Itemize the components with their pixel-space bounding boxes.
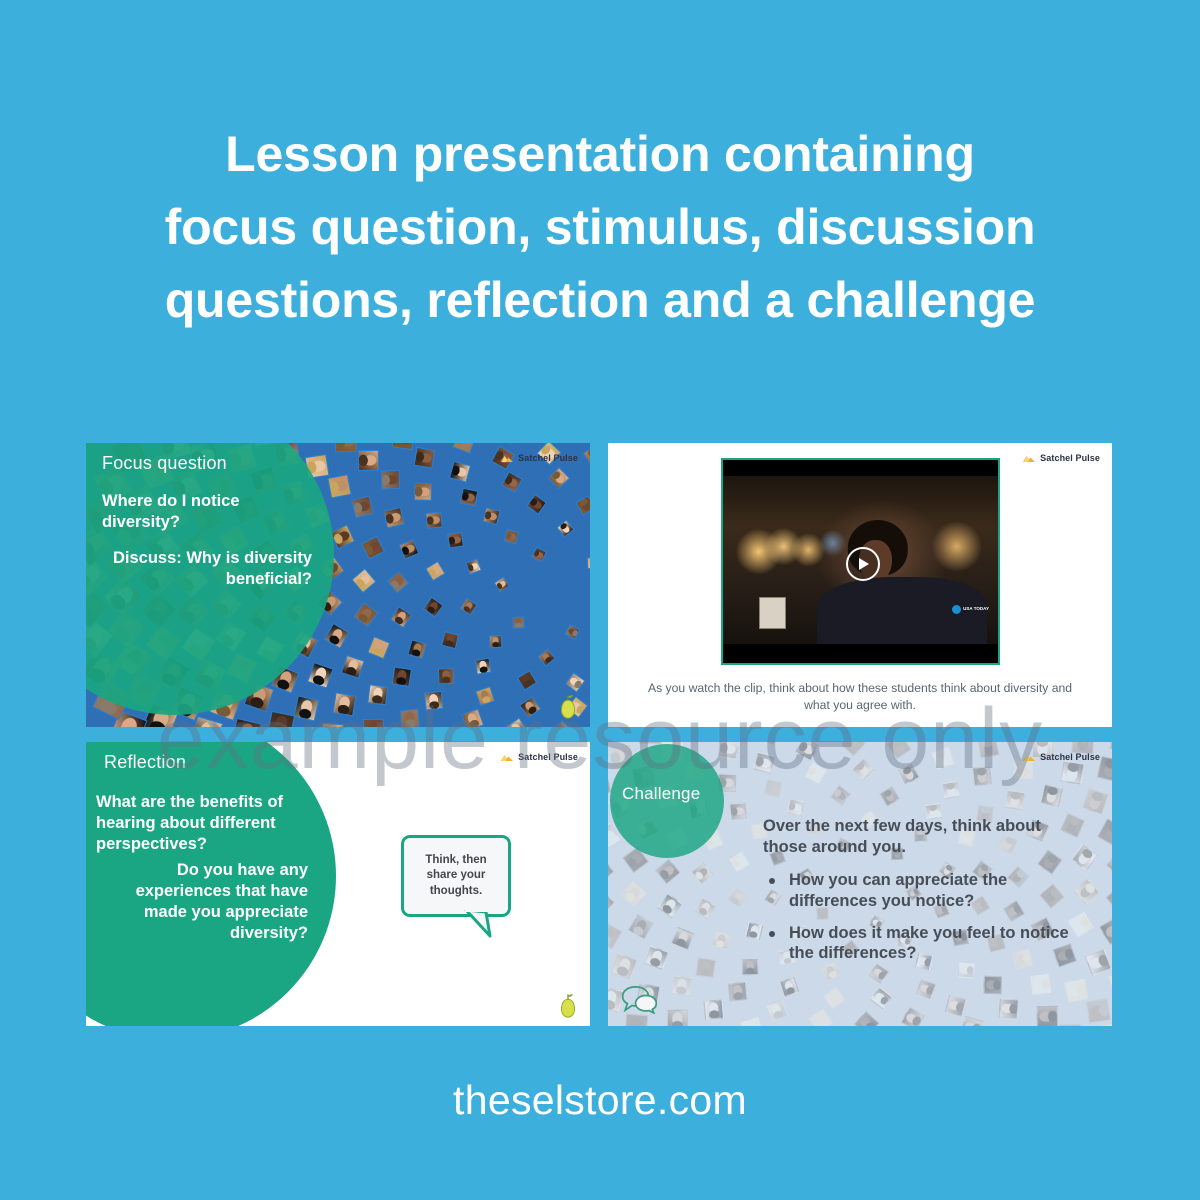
- mosaic-face-tile: [840, 742, 865, 756]
- mosaic-face-tile: [332, 692, 356, 716]
- satchel-pulse-logo: Satchel Pulse: [500, 752, 578, 762]
- mosaic-face-tile: [1030, 973, 1052, 995]
- mosaic-face-tile: [358, 450, 379, 471]
- mosaic-face-tile: [936, 742, 961, 744]
- mosaic-face-tile: [475, 658, 492, 675]
- mosaic-face-tile: [293, 695, 320, 722]
- video-player[interactable]: USA TODAY: [721, 458, 1000, 665]
- pear-icon: [558, 693, 578, 719]
- mosaic-face-tile: [945, 995, 967, 1017]
- mosaic-face-tile: [466, 558, 483, 575]
- page-title-line-3: questions, reflection and a challenge: [60, 264, 1140, 337]
- mosaic-face-tile: [999, 998, 1020, 1019]
- page-title-line-2: focus question, stimulus, discussion: [60, 191, 1140, 264]
- slide-focus-question[interactable]: Satchel Pulse Focus question Where do I …: [86, 443, 590, 727]
- mosaic-face-tile: [328, 474, 352, 498]
- mosaic-face-tile: [973, 766, 992, 785]
- mosaic-face-tile: [977, 742, 1000, 759]
- mosaic-face-tile: [932, 746, 955, 769]
- mosaic-face-tile: [757, 742, 782, 745]
- challenge-lead-text: Over the next few days, think about thos…: [763, 816, 1073, 858]
- mosaic-face-tile: [531, 547, 547, 563]
- mosaic-face-tile: [624, 1013, 648, 1026]
- mosaic-face-tile: [575, 495, 590, 515]
- satchel-pulse-logo: Satchel Pulse: [1022, 453, 1100, 463]
- reflection-question-primary: What are the benefits of hearing about d…: [96, 792, 308, 855]
- mosaic-face-tile: [459, 597, 477, 615]
- mosaic-face-tile: [795, 742, 819, 761]
- mosaic-face-tile: [353, 603, 378, 628]
- mosaic-face-tile: [901, 1007, 925, 1026]
- mosaic-face-tile: [399, 709, 420, 727]
- mosaic-face-tile: [608, 888, 615, 917]
- mosaic-face-tile: [887, 742, 912, 759]
- mosaic-face-tile: [335, 443, 357, 453]
- mosaic-face-tile: [645, 946, 669, 970]
- mosaic-face-tile: [1099, 916, 1112, 945]
- mountain-logo-icon: [500, 453, 514, 463]
- mosaic-face-tile: [363, 719, 384, 727]
- mountain-logo-icon: [500, 752, 514, 762]
- mosaic-face-tile: [517, 671, 537, 691]
- footer-website-url: theselstore.com: [0, 1077, 1200, 1124]
- mosaic-face-tile: [729, 853, 749, 873]
- mosaic-face-tile: [565, 624, 581, 640]
- mosaic-face-tile: [1058, 1024, 1080, 1026]
- mosaic-face-tile: [453, 443, 478, 454]
- mosaic-face-tile: [551, 721, 576, 727]
- mosaic-face-tile: [809, 1009, 834, 1026]
- pear-icon: [558, 992, 578, 1018]
- mosaic-face-tile: [441, 631, 459, 649]
- mosaic-face-tile: [1037, 1006, 1058, 1026]
- mosaic-face-tile: [391, 443, 415, 451]
- mosaic-face-tile: [742, 959, 759, 976]
- mosaic-face-tile: [657, 894, 682, 919]
- slide-kicker-reflection: Reflection: [104, 752, 186, 773]
- mosaic-face-tile: [351, 495, 374, 518]
- mosaic-face-tile: [482, 507, 500, 525]
- mosaic-face-tile: [438, 668, 455, 685]
- mosaic-face-tile: [727, 888, 747, 908]
- mosaic-face-tile: [984, 976, 1002, 994]
- mosaic-face-tile: [718, 742, 740, 760]
- mosaic-face-tile: [425, 511, 443, 529]
- brand-name: Satchel Pulse: [518, 752, 578, 762]
- mosaic-face-tile: [425, 562, 445, 582]
- stimulus-caption: As you watch the clip, think about how t…: [634, 680, 1086, 713]
- mosaic-face-tile: [320, 722, 344, 727]
- mosaic-face-tile: [1106, 883, 1112, 912]
- mosaic-face-tile: [1004, 790, 1024, 810]
- mosaic-face-tile: [786, 798, 804, 816]
- slide-challenge[interactable]: Satchel Pulse Challenge Over the next fe…: [608, 742, 1112, 1026]
- mosaic-face-tile: [1073, 878, 1100, 905]
- mosaic-face-tile: [423, 597, 443, 617]
- mosaic-face-tile: [1040, 784, 1063, 807]
- mosaic-face-tile: [745, 922, 763, 940]
- mosaic-face-tile: [1108, 970, 1112, 998]
- focus-question-primary: Where do I notice diversity?: [102, 491, 312, 533]
- speech-bubbles-icon: [620, 984, 658, 1014]
- mosaic-face-tile: [703, 1000, 724, 1021]
- mosaic-face-tile: [1071, 844, 1098, 871]
- slide-kicker-challenge: Challenge: [622, 784, 700, 804]
- brand-name: Satchel Pulse: [1040, 453, 1100, 463]
- brand-name: Satchel Pulse: [518, 453, 578, 463]
- mosaic-face-tile: [367, 684, 388, 705]
- mosaic-face-tile: [1082, 788, 1109, 815]
- mosaic-face-tile: [766, 999, 789, 1022]
- mosaic-face-tile: [831, 785, 851, 805]
- mosaic-face-tile: [1060, 761, 1084, 785]
- slide-stimulus[interactable]: Satchel Pulse USA TODAY As you watch the…: [608, 443, 1112, 727]
- slide-reflection[interactable]: Satchel Pulse Reflection What are the be…: [86, 742, 590, 1026]
- mosaic-face-tile: [1102, 1023, 1112, 1026]
- mosaic-face-tile: [870, 987, 893, 1010]
- mosaic-face-tile: [399, 538, 420, 559]
- mosaic-face-tile: [696, 958, 716, 978]
- mosaic-face-tile: [266, 711, 294, 727]
- mosaic-face-tile: [414, 483, 432, 501]
- mosaic-face-tile: [739, 1017, 763, 1026]
- mosaic-face-tile: [407, 639, 427, 659]
- mosaic-face-tile: [667, 1010, 688, 1026]
- mountain-logo-icon: [1022, 752, 1036, 762]
- mosaic-face-tile: [916, 978, 937, 999]
- mountain-logo-icon: [1022, 453, 1036, 463]
- mosaic-face-tile: [462, 708, 485, 727]
- mosaic-face-tile: [387, 571, 410, 594]
- mosaic-face-tile: [1109, 742, 1112, 752]
- speech-bubble-tail: [464, 910, 494, 940]
- slide-kicker-focus-question: Focus question: [102, 453, 227, 474]
- mosaic-face-tile: [960, 1016, 984, 1026]
- mosaic-face-tile: [537, 649, 555, 667]
- think-share-text: Think, then share your thoughts.: [404, 838, 508, 914]
- mosaic-face-tile: [383, 507, 404, 528]
- challenge-bullet: How you can appreciate the differences y…: [763, 870, 1075, 912]
- mosaic-face-tile: [351, 569, 376, 594]
- mosaic-face-tile: [447, 531, 464, 548]
- mosaic-face-tile: [1064, 979, 1088, 1003]
- mosaic-face-tile: [341, 655, 365, 679]
- mosaic-face-tile: [694, 896, 716, 918]
- satchel-pulse-logo: Satchel Pulse: [1022, 752, 1100, 762]
- slide-thumbnail-grid: Satchel Pulse Focus question Where do I …: [86, 443, 1114, 1028]
- mosaic-face-tile: [671, 975, 692, 996]
- mosaic-face-tile: [513, 617, 525, 629]
- mosaic-face-tile: [1105, 850, 1112, 879]
- focus-question-secondary: Discuss: Why is diversity beneficial?: [102, 548, 312, 590]
- mosaic-face-tile: [822, 986, 845, 1009]
- mosaic-face-tile: [503, 528, 519, 544]
- page-title: Lesson presentation containing focus que…: [60, 118, 1140, 337]
- mosaic-face-tile: [367, 636, 390, 659]
- mosaic-face-tile: [424, 692, 443, 711]
- brand-name: Satchel Pulse: [1040, 752, 1100, 762]
- mosaic-face-tile: [691, 862, 714, 885]
- mosaic-face-tile: [323, 622, 349, 648]
- mosaic-face-tile: [942, 781, 961, 800]
- mosaic-face-tile: [547, 466, 570, 489]
- mosaic-face-tile: [494, 577, 510, 593]
- source-badge-label: USA TODAY: [963, 607, 989, 612]
- mosaic-face-tile: [556, 519, 574, 537]
- mosaic-face-tile: [627, 913, 653, 939]
- challenge-bullet: How does it make you feel to notice the …: [763, 923, 1075, 965]
- challenge-bullet-list: How you can appreciate the differences y…: [763, 870, 1075, 975]
- mosaic-face-tile: [587, 557, 590, 569]
- mosaic-face-tile: [805, 762, 827, 784]
- mosaic-face-tile: [608, 921, 623, 949]
- mosaic-face-tile: [459, 487, 478, 506]
- mosaic-face-tile: [763, 778, 782, 797]
- mosaic-face-tile: [611, 953, 638, 980]
- mosaic-face-tile: [518, 695, 541, 718]
- mosaic-face-tile: [414, 447, 436, 469]
- mosaic-face-tile: [728, 983, 747, 1002]
- mosaic-face-tile: [307, 662, 334, 689]
- mosaic-face-tile: [608, 855, 614, 884]
- mosaic-face-tile: [392, 667, 412, 687]
- mosaic-face-tile: [655, 860, 680, 885]
- page-title-line-1: Lesson presentation containing: [60, 118, 1140, 191]
- mosaic-face-tile: [435, 726, 459, 727]
- mosaic-face-tile: [620, 880, 647, 907]
- background-picture-frame: [759, 597, 786, 629]
- mosaic-face-tile: [639, 742, 661, 744]
- mosaic-face-tile: [753, 752, 775, 774]
- mosaic-face-tile: [898, 764, 920, 786]
- mosaic-face-tile: [449, 461, 471, 483]
- mosaic-face-tile: [361, 536, 385, 560]
- mosaic-face-tile: [501, 471, 523, 493]
- mosaic-face-tile: [671, 927, 694, 950]
- mosaic-face-tile: [495, 443, 522, 445]
- mosaic-face-tile: [1014, 760, 1034, 780]
- mosaic-face-tile: [489, 635, 503, 649]
- mosaic-face-tile: [729, 802, 747, 820]
- mosaic-face-tile: [851, 757, 874, 780]
- satchel-pulse-logo: Satchel Pulse: [500, 453, 578, 463]
- mosaic-face-tile: [1097, 818, 1112, 846]
- play-icon[interactable]: [846, 547, 880, 581]
- mosaic-face-tile: [505, 718, 530, 727]
- reflection-question-secondary: Do you have any experiences that have ma…: [96, 860, 308, 944]
- mosaic-face-tile: [527, 494, 547, 514]
- mosaic-face-tile: [1085, 949, 1112, 976]
- mosaic-face-tile: [565, 672, 585, 692]
- mosaic-face-tile: [232, 718, 263, 727]
- mosaic-face-tile: [380, 470, 400, 490]
- mosaic-face-tile: [583, 443, 590, 468]
- mosaic-face-tile: [779, 977, 799, 997]
- think-share-speech-bubble: Think, then share your thoughts.: [401, 835, 511, 917]
- mosaic-face-tile: [855, 1012, 880, 1026]
- mosaic-face-tile: [390, 605, 412, 627]
- play-triangle: [859, 558, 869, 570]
- mosaic-face-tile: [879, 786, 899, 806]
- mosaic-face-tile: [475, 686, 495, 706]
- video-source-badge: USA TODAY: [952, 605, 989, 614]
- mosaic-face-tile: [1086, 998, 1112, 1024]
- source-badge-dot: [952, 605, 961, 614]
- mosaic-face-tile: [711, 930, 731, 950]
- mosaic-face-tile: [587, 443, 590, 444]
